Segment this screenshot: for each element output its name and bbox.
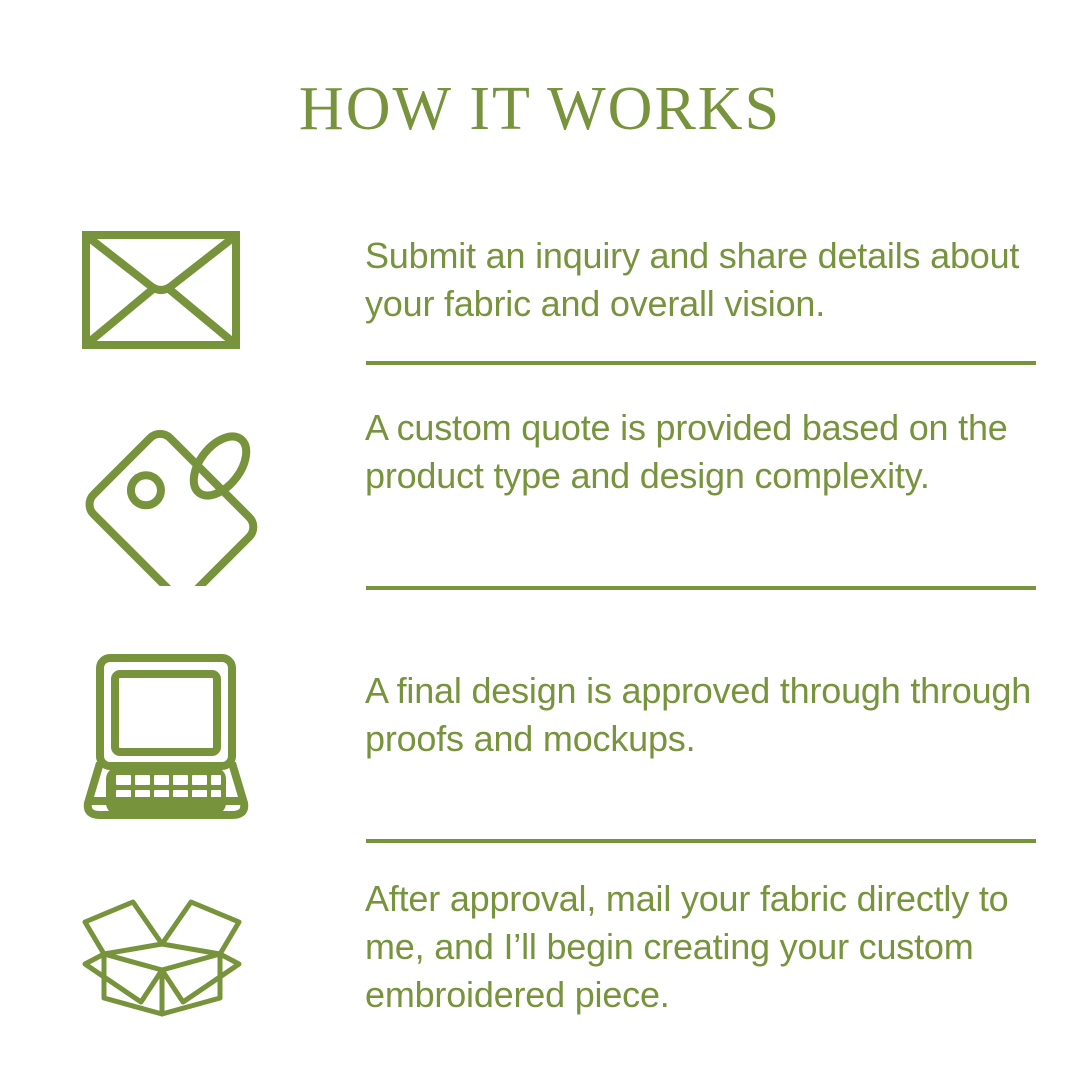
- step-text-3: A final design is approved through throu…: [365, 667, 1065, 763]
- price-tag-icon: [78, 421, 263, 586]
- step-divider-2: [366, 586, 1036, 590]
- how-it-works-graphic: HOW IT WORKS Submit an inquiry and share…: [0, 0, 1080, 1080]
- step-divider-3: [366, 839, 1036, 843]
- laptop-icon: [80, 653, 252, 819]
- step-text-1: Submit an inquiry and share details abou…: [365, 232, 1065, 328]
- step-divider-1: [366, 361, 1036, 365]
- step-text-4: After approval, mail your fabric directl…: [365, 875, 1075, 1019]
- open-box-icon: [78, 886, 246, 1018]
- steps-list: Submit an inquiry and share details abou…: [0, 0, 1080, 1080]
- envelope-icon: [82, 231, 240, 349]
- step-text-2: A custom quote is provided based on the …: [365, 404, 1065, 500]
